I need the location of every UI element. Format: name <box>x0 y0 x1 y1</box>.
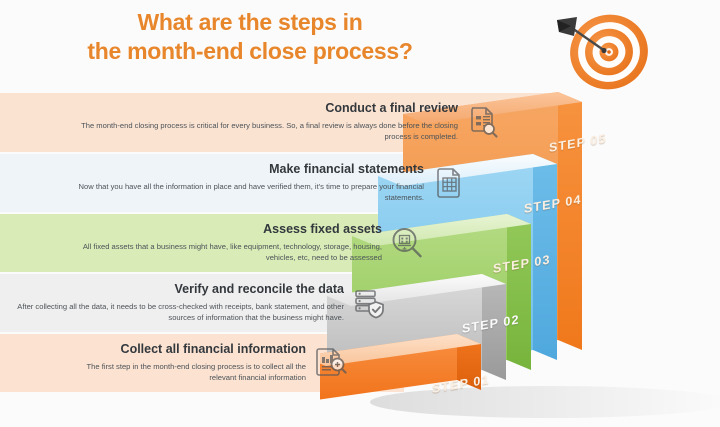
database-shield-check-icon <box>352 286 386 320</box>
step-row-01: Collect all financial information The fi… <box>60 337 348 389</box>
step-text-03: Assess fixed assets All fixed assets tha… <box>60 222 390 263</box>
document-search-icon <box>466 105 500 139</box>
step-body-04: Now that you have all the information in… <box>60 181 424 204</box>
step-row-04: Make financial statements Now that you h… <box>60 157 466 209</box>
step-row-02: Verify and reconcile the data After coll… <box>10 277 386 329</box>
step-body-02: After collecting all the data, it needs … <box>10 301 344 324</box>
infographic-canvas: What are the steps in the month-end clos… <box>0 0 720 427</box>
page-title: What are the steps in the month-end clos… <box>0 8 500 67</box>
step-row-05: Conduct a final review The month-end clo… <box>60 96 500 148</box>
step-row-03: Assess fixed assets All fixed assets tha… <box>60 217 424 269</box>
step-heading-01: Collect all financial information <box>60 342 306 358</box>
financial-document-icon <box>432 166 466 200</box>
step-text-01: Collect all financial information The fi… <box>60 342 314 383</box>
magnifier-building-icon <box>390 226 424 260</box>
report-search-icon <box>314 346 348 380</box>
step-text-04: Make financial statements Now that you h… <box>60 162 432 203</box>
step-heading-05: Conduct a final review <box>60 101 458 117</box>
page-title-line-2: the month-end close process? <box>0 37 500 66</box>
step-body-03: All fixed assets that a business might h… <box>60 241 382 264</box>
step-text-05: Conduct a final review The month-end clo… <box>60 101 466 142</box>
dartboard-target-icon <box>547 6 659 98</box>
page-title-line-1: What are the steps in <box>0 8 500 37</box>
step-body-05: The month-end closing process is critica… <box>60 120 458 143</box>
step-heading-03: Assess fixed assets <box>60 222 382 238</box>
step-heading-04: Make financial statements <box>60 162 424 178</box>
step-body-01: The first step in the month-end closing … <box>60 361 306 384</box>
step-heading-02: Verify and reconcile the data <box>10 282 344 298</box>
step-text-02: Verify and reconcile the data After coll… <box>10 282 352 323</box>
